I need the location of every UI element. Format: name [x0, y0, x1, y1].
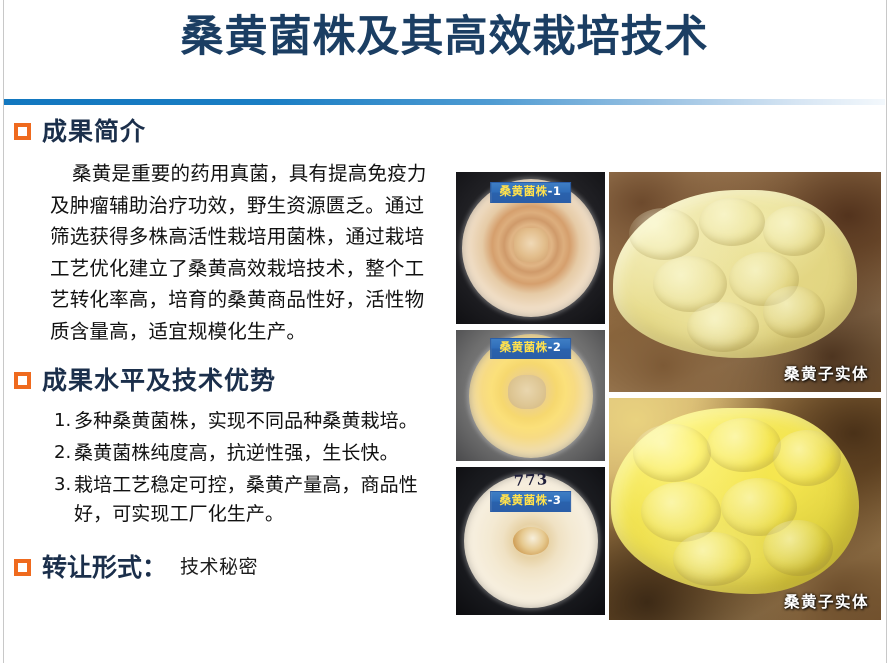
fungus-lobe — [707, 418, 781, 472]
section-header-transfer: 转让形式： 技术秘密 — [14, 548, 448, 584]
spacer-1 — [14, 347, 448, 361]
list-item-number: 1. — [54, 407, 71, 435]
list-item-text: 栽培工艺稳定可控，桑黄产量高，商品性好，可实现工厂化生产。 — [74, 474, 418, 526]
mycelium-core — [513, 527, 549, 555]
title-divider-rule — [4, 99, 885, 105]
dish-label-badge-3: 桑黄菌株-3 — [490, 491, 572, 512]
fungus-lobe — [673, 532, 751, 586]
section-header-intro: 成果简介 — [14, 112, 448, 148]
fungus-lobe — [699, 198, 765, 246]
petri-dish-photo-1: 桑黄菌株-1 — [456, 172, 605, 324]
fruiting-body-photo-column: 桑黄子实体 桑黄子实体 — [609, 172, 881, 626]
transfer-mode-value: 技术秘密 — [180, 552, 258, 579]
spacer-2 — [14, 532, 448, 548]
petri-dish-photo-2: 桑黄菌株-2 — [456, 330, 605, 461]
list-item-number: 2. — [54, 439, 71, 467]
square-bullet-icon — [14, 123, 31, 140]
list-item: 3. 栽培工艺稳定可控，桑黄产量高，商品性好，可实现工厂化生产。 — [54, 471, 448, 530]
fungus-lobe — [687, 302, 759, 352]
fungus-lobe — [633, 424, 711, 482]
section-title-intro: 成果简介 — [42, 112, 146, 148]
fruiting-body-caption-bottom: 桑黄子实体 — [784, 590, 869, 612]
fungus-mass — [611, 408, 859, 594]
list-item: 2. 桑黄菌株纯度高，抗逆性强，生长快。 — [54, 439, 448, 469]
fungus-lobe — [629, 208, 699, 260]
advantages-list: 1. 多种桑黄菌株，实现不同品种桑黄栽培。 2. 桑黄菌株纯度高，抗逆性强，生长… — [14, 407, 448, 530]
section-title-advantages: 成果水平及技术优势 — [42, 361, 276, 397]
list-item-text: 多种桑黄菌株，实现不同品种桑黄栽培。 — [74, 410, 418, 432]
fruiting-body-photo-top: 桑黄子实体 — [609, 172, 881, 392]
dish-label-text: 桑黄菌株 — [500, 493, 548, 507]
slide-title: 桑黄菌株及其高效栽培技术 — [0, 14, 889, 60]
fungus-lobe — [763, 286, 825, 338]
list-item-text: 桑黄菌株纯度高，抗逆性强，生长快。 — [74, 442, 399, 464]
mycelium-core — [508, 375, 546, 409]
square-bullet-icon — [14, 372, 31, 389]
fungus-lobe — [773, 430, 841, 486]
dish-label-suffix: -2 — [548, 340, 562, 354]
slide-title-text: 桑黄菌株及其高效栽培技术 — [181, 14, 709, 60]
dish-label-badge-2: 桑黄菌株-2 — [490, 338, 572, 359]
section-header-advantages: 成果水平及技术优势 — [14, 361, 448, 397]
dish-label-text: 桑黄菌株 — [500, 184, 548, 198]
intro-paragraph: 桑黄是重要的药用真菌，具有提高免疫力及肿瘤辅助治疗功效，野生资源匮乏。通过筛选获… — [14, 158, 448, 347]
dish-label-suffix: -3 — [548, 493, 562, 507]
fungus-lobe — [763, 206, 825, 256]
list-item: 1. 多种桑黄菌株，实现不同品种桑黄栽培。 — [54, 407, 448, 437]
dish-label-badge-1: 桑黄菌株-1 — [490, 182, 572, 203]
mycelium-core — [514, 228, 548, 262]
fruiting-body-photo-bottom: 桑黄子实体 — [609, 398, 881, 620]
fruiting-body-caption-top: 桑黄子实体 — [784, 362, 869, 384]
handwritten-dish-number: 773 — [513, 470, 548, 490]
slide-root: 桑黄菌株及其高效栽培技术 成果简介 桑黄是重要的药用真菌，具有提高免疫力及肿瘤辅… — [0, 0, 889, 663]
petri-dish-photo-3: 773 桑黄菌株-3 — [456, 467, 605, 615]
list-item-number: 3. — [54, 471, 71, 499]
content-column-left: 成果简介 桑黄是重要的药用真菌，具有提高免疫力及肿瘤辅助治疗功效，野生资源匮乏。… — [14, 112, 448, 584]
petri-dish-photo-column: 桑黄菌株-1 桑黄菌株-2 773 桑黄菌株-3 — [456, 172, 605, 621]
square-bullet-icon — [14, 559, 31, 576]
fungus-mass — [613, 190, 857, 358]
section-title-transfer: 转让形式： — [42, 548, 167, 584]
fungus-lobe — [763, 520, 833, 576]
page-border-right — [886, 0, 887, 663]
dish-label-text: 桑黄菌株 — [500, 340, 548, 354]
dish-label-suffix: -1 — [548, 184, 562, 198]
